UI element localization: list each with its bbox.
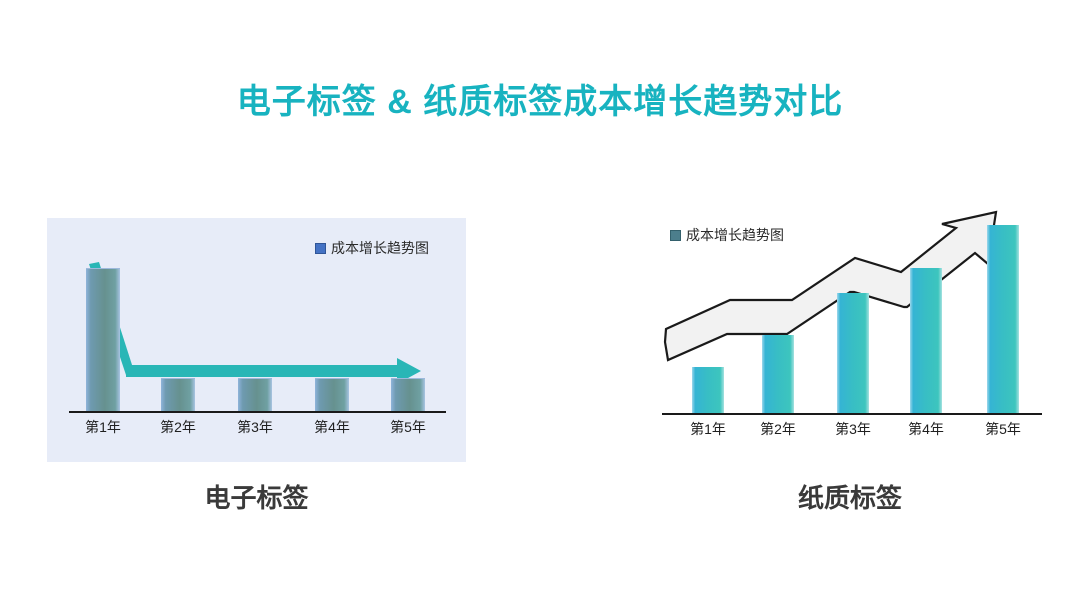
bar-year-4 bbox=[315, 378, 349, 411]
electronic-label-plot-area: 成本增长趋势图 第1年 第2年 第3年 第4年 第5年 bbox=[47, 218, 466, 462]
page-title: 电子标签 & 纸质标签成本增长趋势对比 bbox=[0, 74, 1080, 123]
x-axis-label-year-3: 第3年 bbox=[225, 417, 285, 437]
bar-year-3 bbox=[837, 293, 869, 415]
bar-year-2 bbox=[161, 378, 195, 411]
x-axis-label-year-5: 第5年 bbox=[378, 417, 438, 437]
paper-label-caption: 纸质标签 bbox=[648, 478, 1052, 515]
bar-year-2 bbox=[762, 335, 794, 415]
bar-year-5 bbox=[987, 225, 1019, 415]
electronic-label-caption: 电子标签 bbox=[47, 478, 466, 515]
x-axis-label-year-1: 第1年 bbox=[678, 419, 738, 439]
x-axis-label-year-2: 第2年 bbox=[148, 417, 208, 437]
x-axis-line bbox=[662, 413, 1042, 415]
x-axis-label-year-2: 第2年 bbox=[748, 419, 808, 439]
paper-label-plot-area: 成本增长趋势图 第1年 第2年 第3年 第4年 第5年 bbox=[648, 190, 1052, 450]
bar-year-5 bbox=[391, 378, 425, 411]
electronic-label-chart-panel: 成本增长趋势图 第1年 第2年 第3年 第4年 第5年 bbox=[47, 218, 466, 462]
bar-year-1 bbox=[86, 268, 120, 411]
x-axis-label-year-3: 第3年 bbox=[823, 419, 883, 439]
x-axis-label-year-5: 第5年 bbox=[973, 419, 1033, 439]
x-axis-label-year-4: 第4年 bbox=[302, 417, 362, 437]
bar-year-3 bbox=[238, 378, 272, 411]
bar-year-1 bbox=[692, 367, 724, 415]
bar-year-4 bbox=[910, 268, 942, 415]
x-axis-label-year-4: 第4年 bbox=[896, 419, 956, 439]
x-axis-line bbox=[69, 411, 446, 413]
paper-label-chart-panel: 成本增长趋势图 第1年 第2年 第3年 第4年 第5年 bbox=[648, 190, 1052, 450]
x-axis-label-year-1: 第1年 bbox=[73, 417, 133, 437]
